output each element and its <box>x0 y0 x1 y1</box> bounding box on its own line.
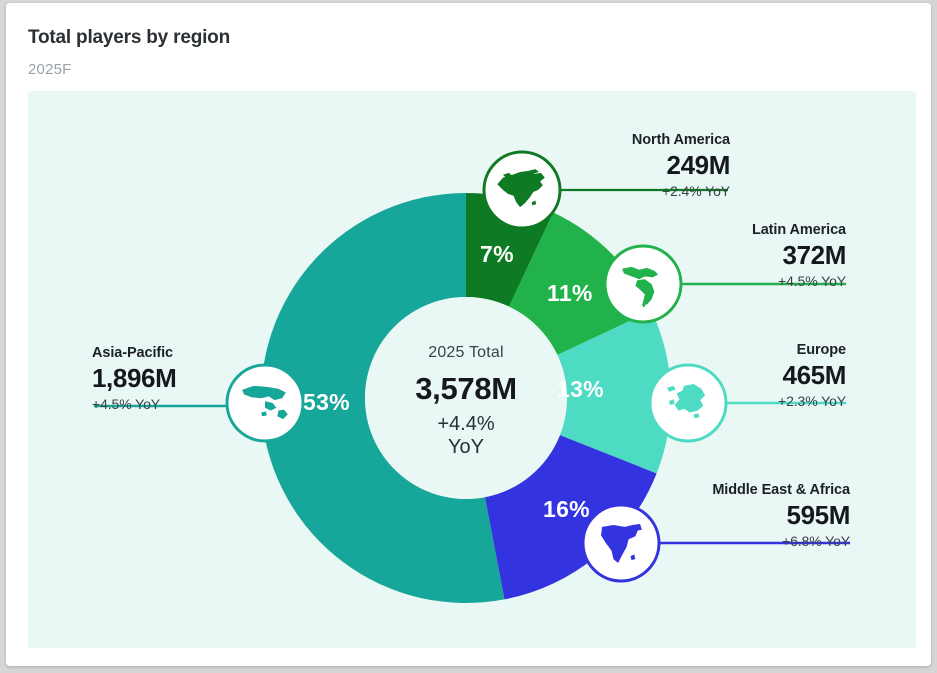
callout-region-name: Europe <box>626 341 846 360</box>
callout-asia-pacific[interactable]: Asia-Pacific 1,896M +4.5% YoY <box>92 344 276 414</box>
center-growth: +4.4% YoY <box>437 413 494 459</box>
center-total-label: 2025 Total <box>428 344 504 362</box>
callout-region-name: Asia-Pacific <box>92 344 276 363</box>
callout-region-yoy: +2.3% YoY <box>626 391 846 411</box>
callout-region-yoy: +2.4% YoY <box>472 181 730 201</box>
callout-region-name: North America <box>472 131 730 150</box>
callout-region-name: Middle East & Africa <box>566 481 850 500</box>
callout-region-yoy: +4.5% YoY <box>586 271 846 291</box>
callout-region-value: 465M <box>626 360 846 391</box>
callout-region-value: 1,896M <box>92 363 276 394</box>
center-growth-percent: +4.4% <box>437 413 494 436</box>
callout-region-value: 249M <box>472 150 730 181</box>
center-growth-unit: YoY <box>437 436 494 459</box>
callout-north-america[interactable]: North America 249M +2.4% YoY <box>472 131 730 201</box>
percent-label-europe: 13% <box>557 376 604 403</box>
callout-europe[interactable]: Europe 465M +2.3% YoY <box>626 341 846 411</box>
page-title: Total players by region <box>28 27 230 49</box>
percent-label-north-america: 7% <box>480 241 514 268</box>
callout-region-yoy: +6.8% YoY <box>566 531 850 551</box>
chart-card: Total players by region 2025F <box>6 3 931 666</box>
callout-region-value: 372M <box>586 240 846 271</box>
callout-region-value: 595M <box>566 500 850 531</box>
page-subtitle: 2025F <box>28 61 72 78</box>
callout-latin-america[interactable]: Latin America 372M +4.5% YoY <box>586 221 846 291</box>
callout-middle-east-africa[interactable]: Middle East & Africa 595M +6.8% YoY <box>566 481 850 551</box>
callout-region-yoy: +4.5% YoY <box>92 394 276 414</box>
callout-region-name: Latin America <box>586 221 846 240</box>
center-total-value: 3,578M <box>415 371 517 407</box>
percent-label-asia-pacific: 53% <box>303 389 350 416</box>
